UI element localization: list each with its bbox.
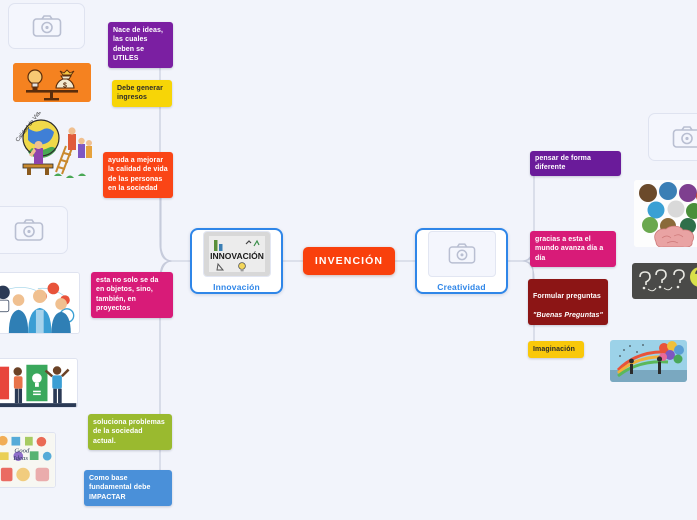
innovacion-thumbnail: INNOVACIÓN [203,231,271,277]
media-brain-circles[interactable] [634,180,697,247]
leaf-label-pensar-diferente[interactable]: pensar de forma diferente [530,151,621,176]
svg-text:Ideas: Ideas [12,455,28,462]
media-creative-doors[interactable] [0,358,78,408]
camera-icon [672,125,697,149]
camera-icon [14,218,44,242]
media-balloons-rainbow[interactable] [610,340,687,382]
main-node-innovacion[interactable]: INNOVACIÓN Innovación [190,228,283,294]
mindmap-canvas: $ [0,0,697,520]
leaf-label-formular-preguntas[interactable]: Formular preguntas "Buenas Preguntas" [528,279,608,325]
media-camera-placeholder-3[interactable] [648,113,697,161]
leaf-label-objetos-proyectos[interactable]: esta no solo se da en objetos, sino, tam… [91,272,173,318]
leaf-label-buenas-preguntas: "Buenas Preguntas" [533,312,603,319]
svg-text:Good: Good [14,447,30,454]
center-node-invencion[interactable]: INVENCIÓN [303,247,395,275]
leaf-label-debe-generar-ingresos[interactable]: Debe generar ingresos [112,80,172,107]
media-camera-placeholder-1[interactable] [8,3,85,49]
main-node-creatividad[interactable]: Creatividad [415,228,508,294]
svg-text:$: $ [63,83,67,90]
svg-text:INNOVACIÓN: INNOVACIÓN [210,250,264,261]
leaf-label-calidad-de-vida[interactable]: ayuda a mejorar la calidad de vida de la… [103,152,173,198]
camera-icon [428,231,496,277]
leaf-label-formular-preguntas-line1: Formular preguntas [533,293,601,300]
leaf-label-debe-impactar[interactable]: Como base fundamental debe IMPACTAR [84,470,172,506]
leaf-label-soluciona-problemas[interactable]: soluciona problemas de la sociedad actua… [88,414,172,450]
main-node-creatividad-caption: Creatividad [437,282,486,292]
camera-icon [32,14,62,38]
media-question-marks-chalkboard[interactable] [632,263,697,299]
media-balance-bulb-money[interactable]: $ [13,63,91,102]
media-camera-placeholder-2[interactable] [0,206,68,254]
media-ideas-collage[interactable]: Good Ideas [0,432,56,488]
main-node-innovacion-caption: Innovación [213,282,260,292]
media-calidad-de-vida[interactable]: Calidad de Vida [8,112,96,184]
media-teamwork-network[interactable] [0,272,80,334]
leaf-label-nace-de-ideas[interactable]: Nace de ideas, las cuales deben se UTILE… [108,22,173,68]
leaf-label-imaginacion[interactable]: Imaginación [528,341,584,358]
leaf-label-mundo-avanza[interactable]: gracias a esta el mundo avanza día a día [530,231,616,267]
